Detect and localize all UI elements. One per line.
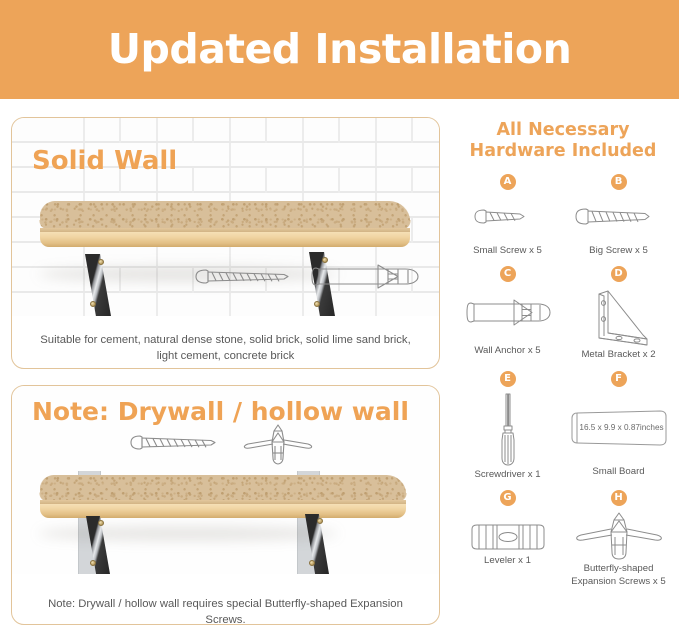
- shelf-shadow: [38, 526, 338, 541]
- metal-bracket-right: [305, 514, 329, 574]
- shelf-cork-surface: [39, 201, 410, 229]
- badge-e: E: [500, 371, 516, 387]
- badge-d: D: [611, 266, 627, 282]
- drywall-icon-row: [128, 422, 338, 479]
- small-screw-icon: [452, 190, 563, 244]
- hardware-grid: A Small Screw x 5 B: [452, 165, 674, 588]
- bracket-screw: [90, 560, 96, 566]
- hardware-label-e: Screwdriver x 1: [474, 469, 540, 481]
- metal-bracket-left: [85, 254, 111, 316]
- badge-b: B: [611, 174, 627, 190]
- hardware-column: All Necessary Hardware Included A Small …: [452, 120, 674, 588]
- hardware-item-small-board: F 16.5 x 9.9 x 0.87inches Smal: [563, 362, 674, 481]
- hardware-label-d: Metal Bracket x 2: [581, 349, 655, 361]
- board-dimensions-text: 16.5 x 9.9 x 0.87inches: [570, 407, 668, 449]
- metal-bracket-icon: [581, 288, 657, 348]
- hardware-label-c: Wall Anchor x 5: [474, 345, 540, 357]
- hardware-item-big-screw: B Big Screw x 5: [563, 165, 674, 257]
- hardware-item-butterfly-screw: H: [563, 481, 674, 588]
- wall-anchor-icon: [452, 282, 563, 344]
- bracket-screw: [309, 560, 315, 566]
- hardware-label-g: Leveler x 1: [484, 555, 531, 567]
- metal-bracket-left: [86, 516, 110, 574]
- page-title: Updated Installation: [108, 29, 572, 70]
- butterfly-anchor-icon: [244, 425, 311, 464]
- hardware-title-line2: Hardware Included: [452, 141, 674, 162]
- hardware-item-screwdriver: E Screwdriver: [452, 362, 563, 481]
- hardware-label-a: Small Screw x 5: [473, 245, 542, 257]
- shelf-front-edge: [40, 232, 410, 247]
- screwdriver-icon: [491, 392, 525, 468]
- bracket-screw: [98, 520, 104, 526]
- bracket-screw: [90, 301, 96, 307]
- screw-icon: [196, 270, 288, 283]
- solid-wall-icon-row: [192, 260, 422, 299]
- solid-wall-icons-svg: [192, 260, 422, 294]
- butterfly-screw-icon: [573, 510, 665, 562]
- big-screw-icon: [563, 190, 674, 244]
- page-header: Updated Installation: [0, 0, 679, 99]
- wooden-shelf-solid: [40, 201, 410, 258]
- drywall-icons-svg: [128, 422, 338, 474]
- hardware-label-f: Small Board: [592, 466, 644, 478]
- badge-g: G: [500, 490, 516, 506]
- bracket-screw: [317, 518, 323, 524]
- wall-anchor-icon: [312, 265, 418, 288]
- hardware-title: All Necessary Hardware Included: [452, 120, 674, 163]
- screw-icon: [131, 436, 215, 449]
- hardware-item-small-screw: A Small Screw x 5: [452, 165, 563, 257]
- badge-f: F: [611, 371, 627, 387]
- hardware-title-line1: All Necessary: [452, 120, 674, 141]
- badge-h: H: [611, 490, 627, 506]
- hardware-label-b: Big Screw x 5: [589, 245, 648, 257]
- leveler-icon: [468, 520, 548, 554]
- hardware-item-leveler: G Leveler x 1: [452, 481, 563, 588]
- badge-c: C: [500, 266, 516, 282]
- caption-drywall: Note: Drywall / hollow wall requires spe…: [11, 596, 440, 628]
- caption-solid-wall: Suitable for cement, natural dense stone…: [11, 332, 440, 364]
- hardware-item-metal-bracket: D: [563, 257, 674, 361]
- infographic-page: Updated Installation: [0, 0, 679, 634]
- bracket-screw: [314, 301, 320, 307]
- panel-title-drywall: Note: Drywall / hollow wall: [32, 397, 409, 426]
- panel-title-solid-wall: Solid Wall: [32, 146, 177, 176]
- bracket-screw: [98, 259, 104, 265]
- small-board-icon: 16.5 x 9.9 x 0.87inches: [570, 407, 668, 454]
- hardware-label-h: Butterfly-shaped Expansion Screws x 5: [563, 563, 674, 588]
- hardware-item-wall-anchor: C Wall Anchor x 5: [452, 257, 563, 361]
- badge-a: A: [500, 174, 516, 190]
